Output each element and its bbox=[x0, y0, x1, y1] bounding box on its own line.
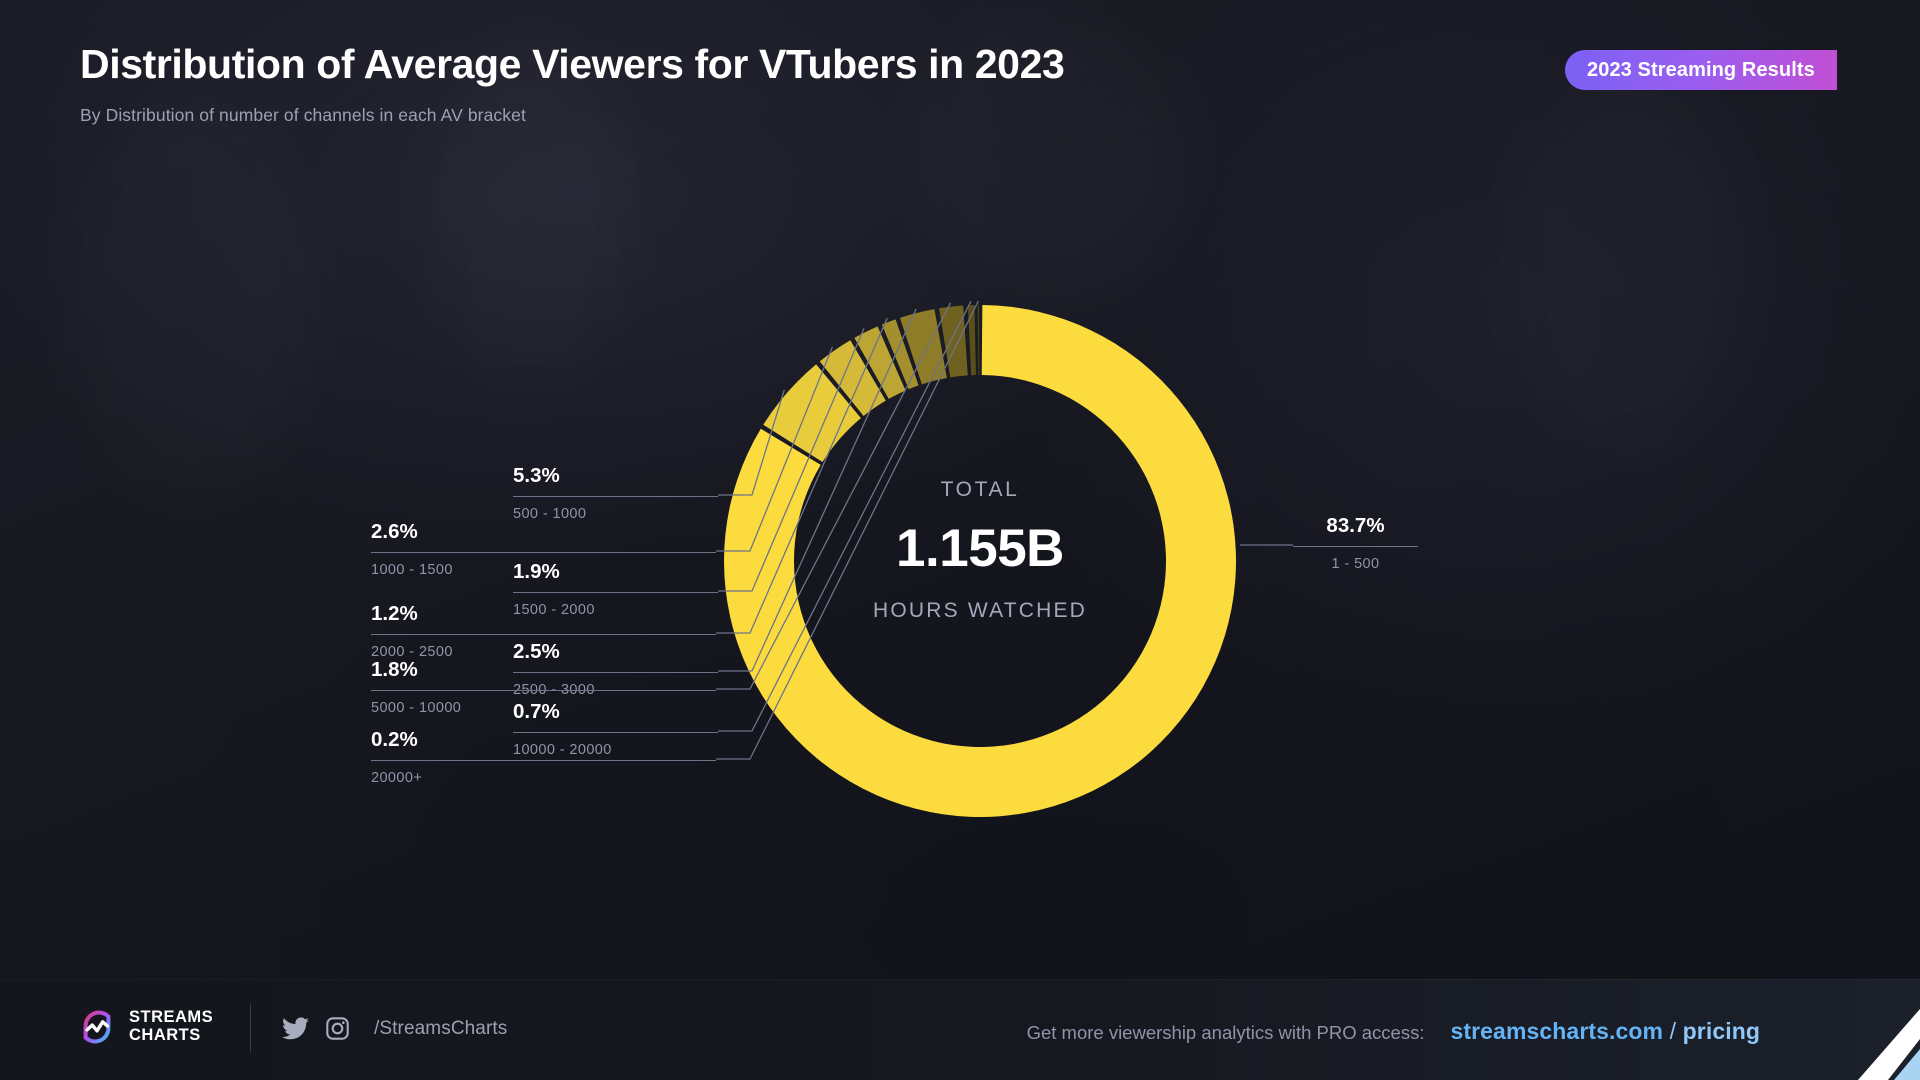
callout-range: 1 - 500 bbox=[1293, 556, 1418, 572]
promo-page[interactable]: pricing bbox=[1683, 1018, 1760, 1044]
callout-percent: 1.8% bbox=[371, 660, 716, 681]
brand-wordmark: STREAMS CHARTS bbox=[129, 1009, 213, 1045]
callout-rule bbox=[371, 552, 716, 553]
social-links[interactable]: /StreamsCharts bbox=[282, 1016, 507, 1041]
donut-slices bbox=[724, 305, 1236, 817]
brand-line-2: CHARTS bbox=[129, 1026, 201, 1044]
callout-range: 20000+ bbox=[371, 770, 716, 786]
streamscharts-logo-icon bbox=[78, 1008, 116, 1046]
callout-rule bbox=[1293, 546, 1418, 547]
donut-slice bbox=[978, 305, 980, 375]
callout-rule bbox=[513, 592, 718, 593]
callout-percent: 1.2% bbox=[371, 604, 716, 625]
callout-percent: 1.9% bbox=[513, 562, 718, 583]
instagram-icon[interactable] bbox=[325, 1016, 350, 1041]
callout-rule bbox=[513, 496, 718, 497]
callout-rule bbox=[371, 760, 716, 761]
callout-right: 83.7%1 - 500 bbox=[1293, 516, 1418, 572]
donut-chart: TOTAL 1.155B HOURS WATCHED 5.3%500 - 100… bbox=[0, 0, 1920, 1000]
callout-rule bbox=[371, 634, 716, 635]
promo-block: Get more viewership analytics with PRO a… bbox=[1027, 1018, 1760, 1045]
footer: STREAMS CHARTS /St bbox=[0, 979, 1920, 1080]
callout-left: 0.2%20000+ bbox=[371, 730, 716, 786]
promo-domain[interactable]: streamscharts.com bbox=[1450, 1018, 1663, 1044]
footer-divider bbox=[250, 1004, 251, 1052]
promo-separator: / bbox=[1670, 1018, 1677, 1044]
callout-percent: 0.7% bbox=[513, 702, 718, 723]
callout-left: 5.3%500 - 1000 bbox=[513, 466, 718, 522]
donut-slice bbox=[968, 305, 976, 375]
social-handle[interactable]: /StreamsCharts bbox=[374, 1018, 507, 1040]
callout-percent: 5.3% bbox=[513, 466, 718, 487]
callout-rule bbox=[371, 690, 716, 691]
callout-percent: 83.7% bbox=[1293, 516, 1418, 537]
donut-chart-svg bbox=[0, 0, 1920, 1000]
brand-line-1: STREAMS bbox=[129, 1008, 213, 1026]
promo-text: Get more viewership analytics with PRO a… bbox=[1027, 1022, 1425, 1044]
callout-range: 500 - 1000 bbox=[513, 506, 718, 522]
infographic-canvas: Distribution of Average Viewers for VTub… bbox=[0, 0, 1920, 1080]
promo-link[interactable]: streamscharts.com / pricing bbox=[1450, 1018, 1760, 1045]
callout-percent: 0.2% bbox=[371, 730, 716, 751]
brand-logo[interactable]: STREAMS CHARTS bbox=[78, 1008, 213, 1046]
twitter-bird-icon[interactable] bbox=[282, 1017, 309, 1040]
callout-percent: 2.6% bbox=[371, 522, 716, 543]
corner-decoration bbox=[1770, 979, 1920, 1080]
